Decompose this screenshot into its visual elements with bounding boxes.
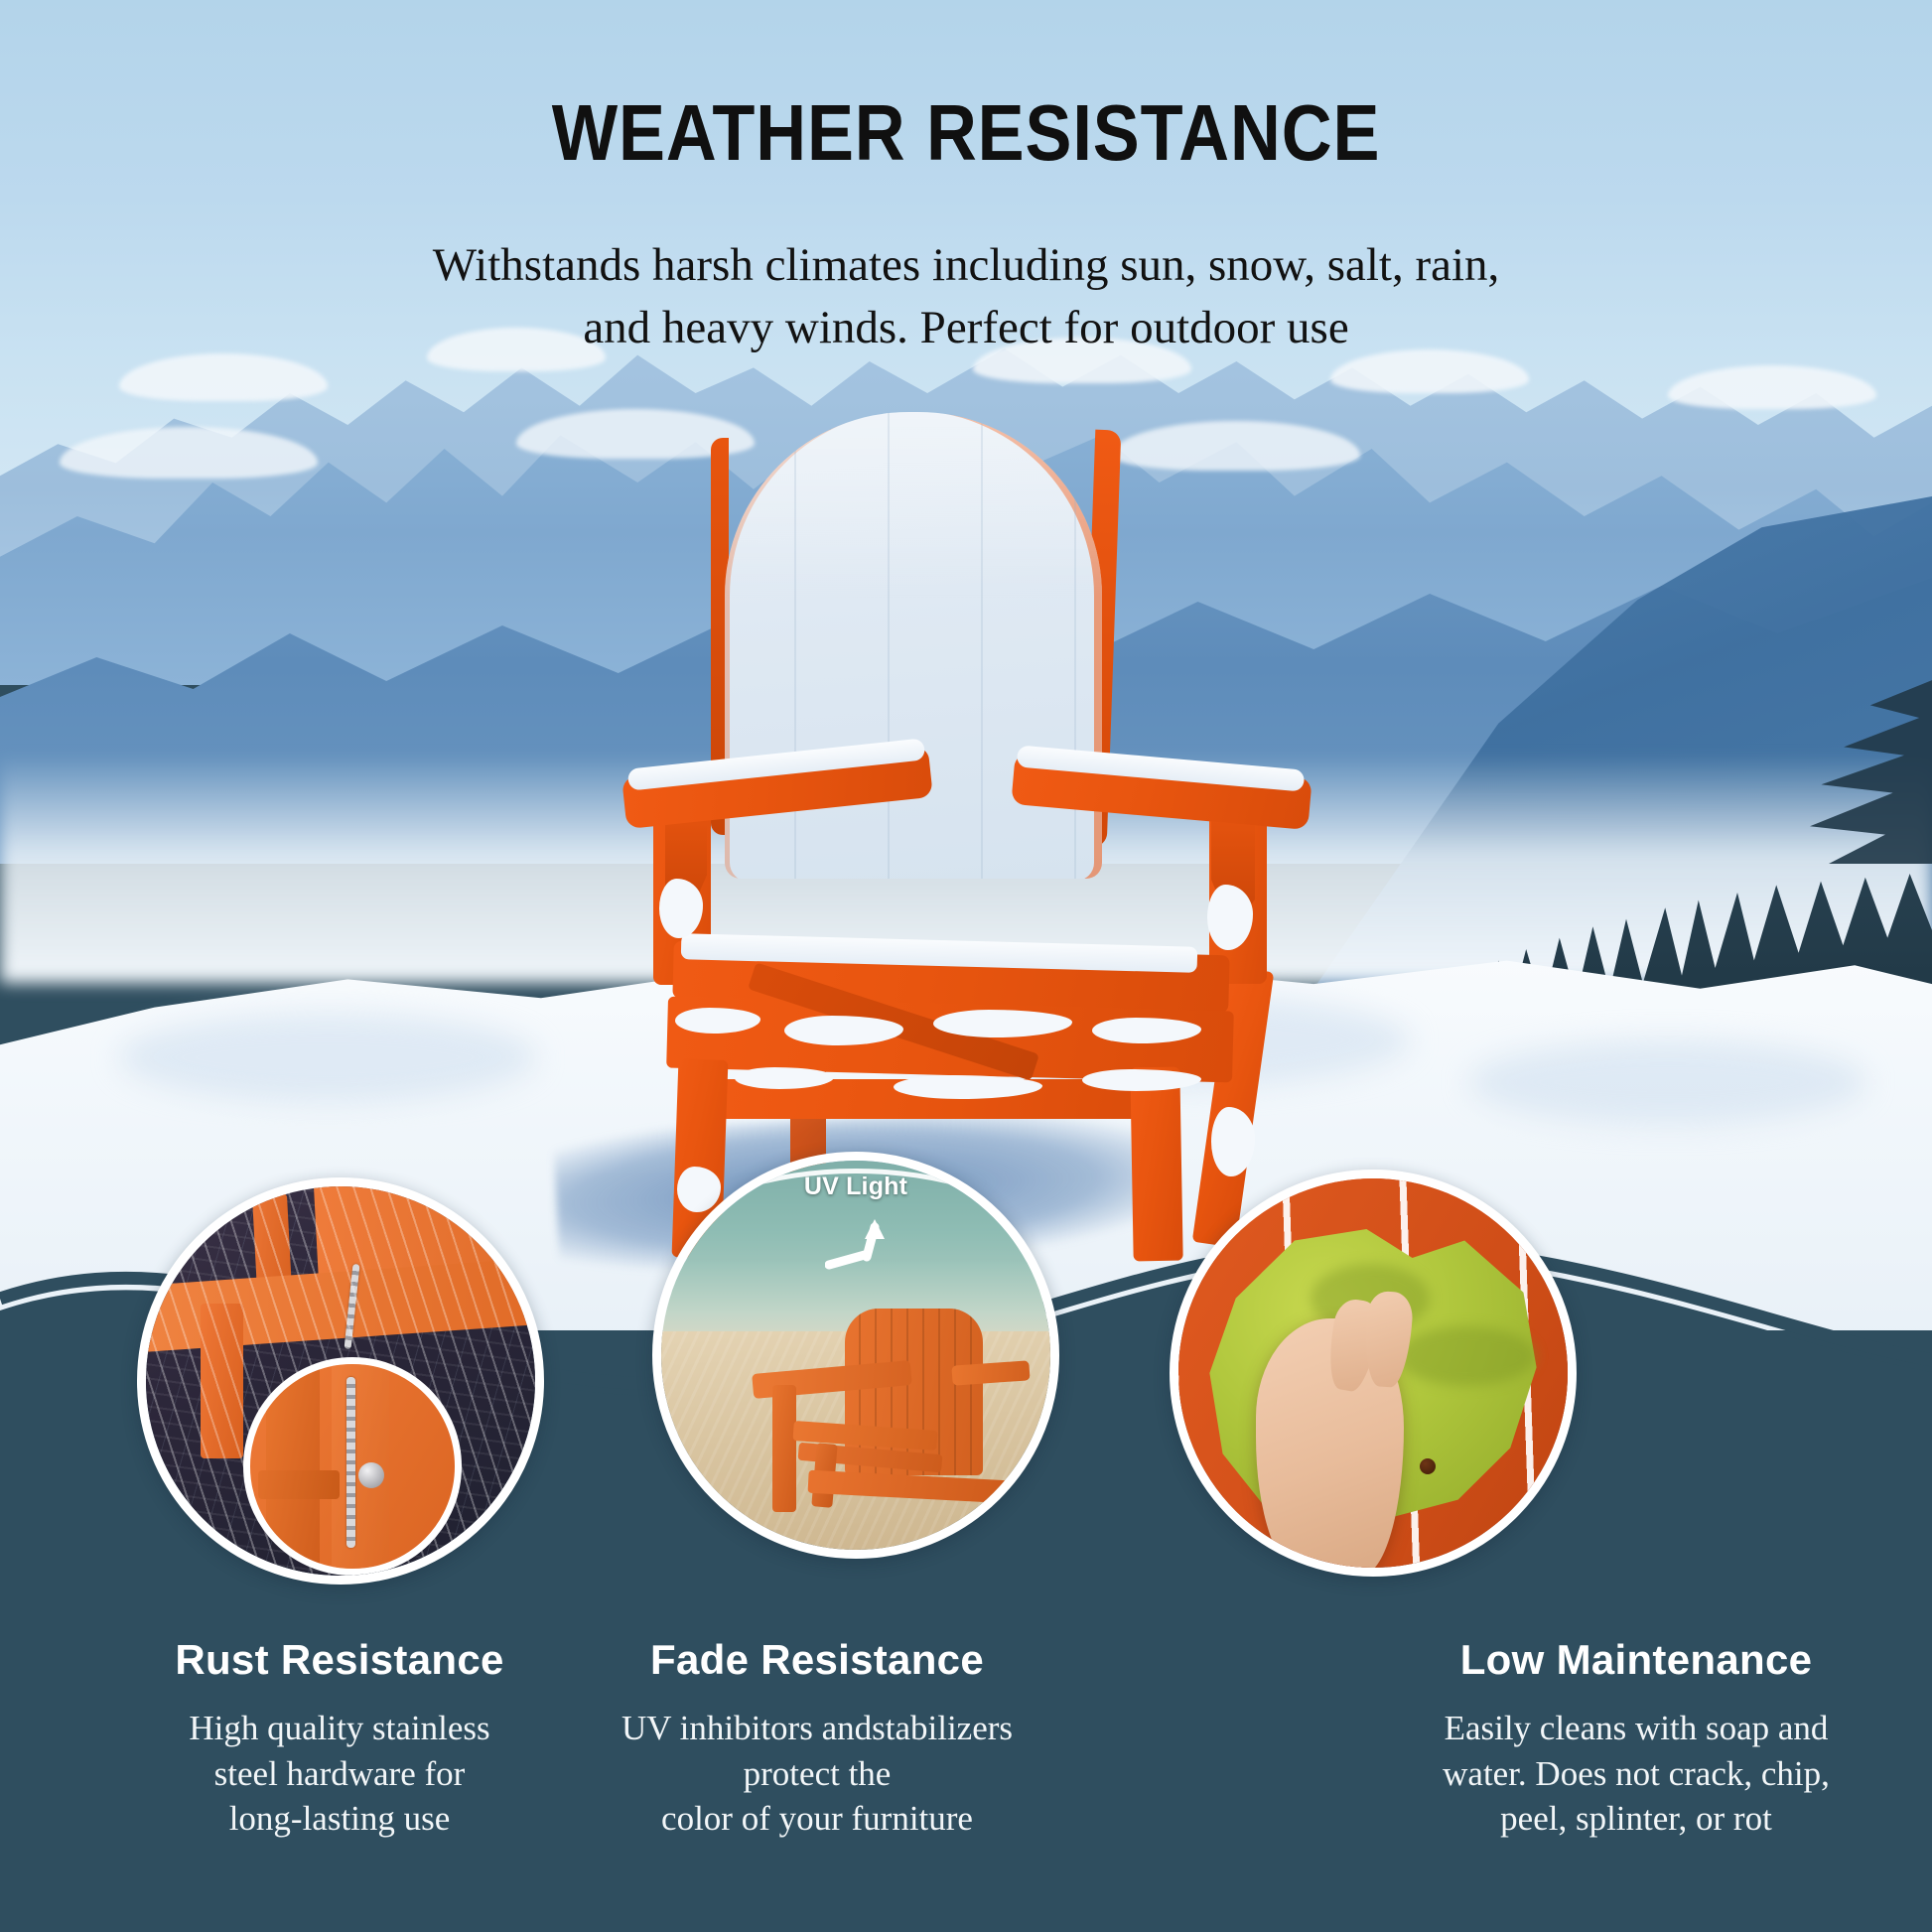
feature-description: Easily cleans with soap and water. Does … <box>1338 1706 1932 1842</box>
uv-light-label: UV Light <box>661 1173 1050 1201</box>
stainless-chain-closeup <box>346 1377 355 1549</box>
feature-image-rust-resistance <box>137 1177 544 1585</box>
subtitle-line: Withstands harsh climates including sun,… <box>350 234 1582 297</box>
beach-chair-runner <box>808 1470 1010 1503</box>
feature-image-fade-resistance: UV Light <box>652 1152 1059 1559</box>
feature-line: color of your furniture <box>504 1796 1130 1842</box>
feature-block-fade-resistance: Fade Resistance UV inhibitors andstabili… <box>504 1636 1130 1842</box>
feature-title: Fade Resistance <box>504 1636 1130 1684</box>
feature-line: protect the <box>504 1751 1130 1797</box>
beach-chair <box>762 1309 1020 1534</box>
feature-line: peel, splinter, or rot <box>1338 1796 1932 1842</box>
feature-line: UV inhibitors andstabilizers <box>504 1706 1130 1751</box>
snow-drift <box>119 1013 536 1102</box>
feature-title: Low Maintenance <box>1338 1636 1932 1684</box>
subtitle-line: and heavy winds. Perfect for outdoor use <box>350 297 1582 359</box>
cloth-fold <box>1397 1326 1536 1386</box>
infographic-canvas: UV Light WEATHER RESISTANCE Withstand <box>0 0 1932 1932</box>
feature-line: Easily cleans with soap and <box>1338 1706 1932 1751</box>
snow-patch <box>1082 1069 1201 1091</box>
page-title: WEATHER RESISTANCE <box>116 87 1816 179</box>
beach-chair-post <box>772 1385 795 1511</box>
feature-block-low-maintenance: Low Maintenance Easily cleans with soap … <box>1338 1636 1932 1842</box>
feature-description: UV inhibitors andstabilizers protect the… <box>504 1706 1130 1842</box>
feature-image-low-maintenance <box>1170 1170 1577 1577</box>
uv-deflection-arrow-icon <box>825 1219 910 1285</box>
hero-product-chair <box>616 412 1311 1147</box>
feature-line: water. Does not crack, chip, <box>1338 1751 1932 1797</box>
hardware-inset-zoom <box>243 1357 462 1576</box>
page-subtitle: Withstands harsh climates including sun,… <box>350 234 1582 359</box>
